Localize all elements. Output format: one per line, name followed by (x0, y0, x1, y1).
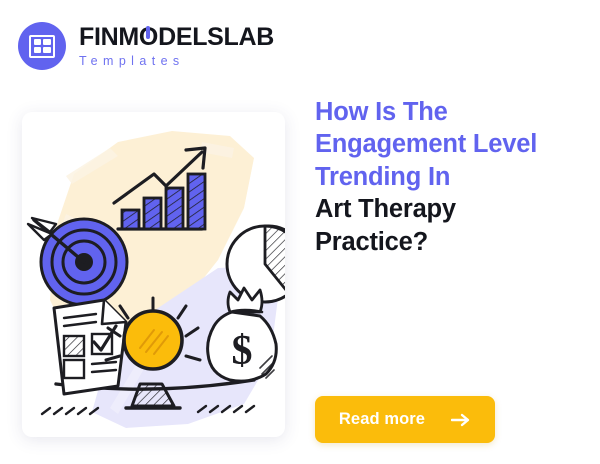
headline-lead-line-3: Trending In (315, 161, 583, 193)
bar-chart-bar (166, 188, 183, 229)
business-analytics-illustration: $ (22, 112, 285, 437)
brand-name: FINMODELSLAB (79, 25, 274, 50)
brand-text: FINMODELSLAB Templates (79, 25, 274, 68)
brand-name-o-slot: O (139, 25, 158, 50)
location-pin-icon (146, 26, 150, 39)
grid-cell (43, 47, 50, 53)
bar-chart-bar (144, 198, 161, 229)
content-column: How Is The Engagement Level Trending In … (315, 96, 583, 258)
headline-lead-line-1: How Is The (315, 96, 583, 128)
promo-banner: FINMODELSLAB Templates (0, 0, 600, 464)
grid-cell (34, 47, 41, 53)
target-with-arrow (28, 218, 127, 305)
brand-name-part1: FINM (79, 23, 139, 51)
brand-mark (18, 22, 66, 70)
headline-tail-line-1: Art Therapy (315, 193, 583, 225)
illustration-card: $ (22, 112, 285, 437)
svg-text:$: $ (232, 328, 253, 374)
read-more-button[interactable]: Read more (315, 396, 495, 443)
brand-logo: FINMODELSLAB Templates (18, 22, 274, 70)
page-title: How Is The Engagement Level Trending In … (315, 96, 583, 258)
bar-chart-bar (188, 174, 205, 229)
checklist-document (54, 300, 126, 394)
grid-icon (29, 35, 55, 58)
headline-lead-line-2: Engagement Level (315, 128, 583, 160)
bar-chart-bar (122, 210, 139, 229)
brand-name-part2: DELSLAB (158, 23, 274, 51)
grid-cell (34, 39, 41, 45)
arrow-right-icon (451, 413, 471, 427)
headline-tail-line-2: Practice? (315, 226, 583, 258)
grid-cell (43, 39, 50, 45)
read-more-label: Read more (339, 410, 425, 429)
brand-tagline: Templates (79, 55, 274, 68)
